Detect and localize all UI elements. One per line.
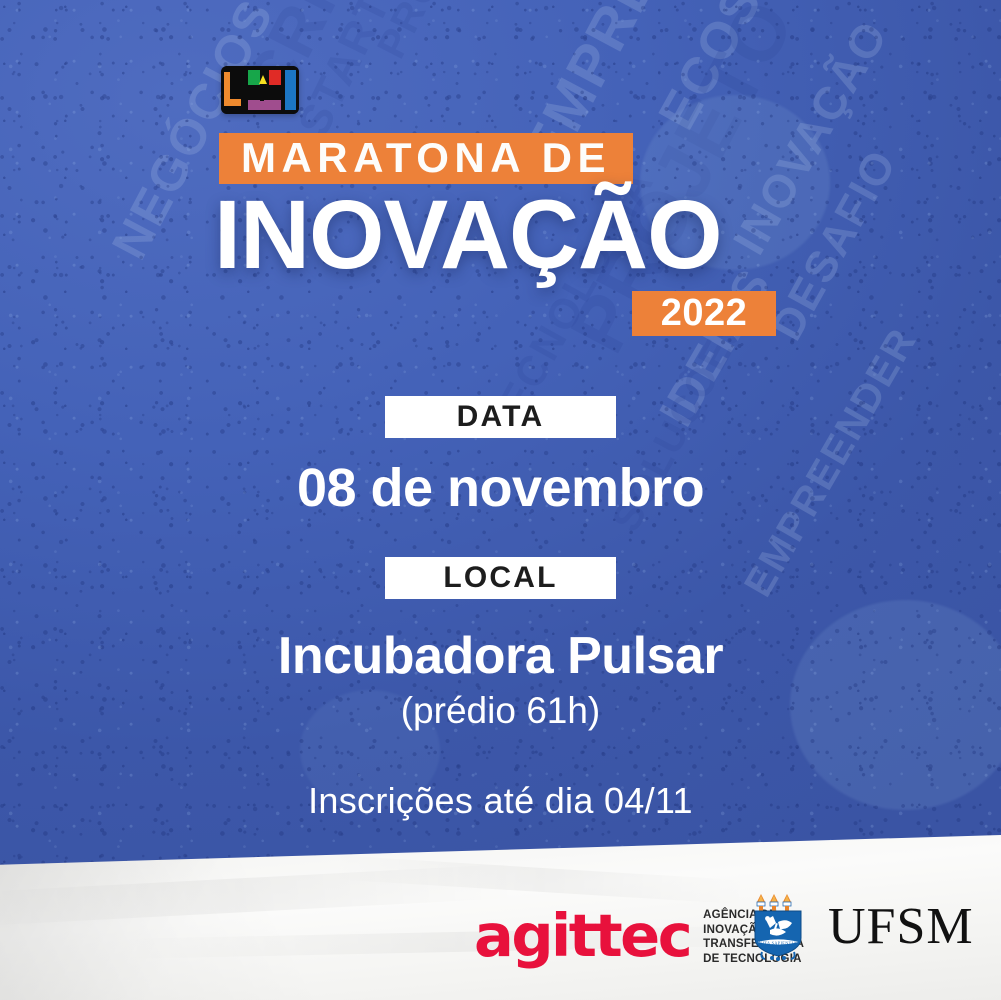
headline-line2: INOVAÇÃO — [214, 186, 814, 283]
ufsm-logo: VITA SAPIENTIA UFSM — [752, 892, 974, 962]
headline-line1: MARATONA DE — [241, 137, 611, 181]
svg-text:VITA SAPIENTIA: VITA SAPIENTIA — [759, 941, 797, 946]
agittec-wordmark: agittec — [474, 906, 690, 965]
promotional-poster: CRIATIVIDADE EMPREENDEDORISMO ECOSSISTEM… — [0, 0, 1001, 1000]
local-label-badge: LOCAL — [385, 557, 616, 599]
ufsm-crest-icon: VITA SAPIENTIA — [752, 892, 814, 962]
local-label-text: LOCAL — [443, 563, 557, 594]
jai-logo-icon — [221, 66, 299, 114]
ufsm-wordmark: UFSM — [828, 901, 974, 953]
venue-detail: (prédio 61h) — [0, 692, 1001, 729]
headline-maratona-bar: MARATONA DE — [219, 133, 633, 184]
year-text: 2022 — [661, 294, 748, 334]
data-label-badge: DATA — [385, 396, 616, 438]
venue-value: Incubadora Pulsar — [0, 630, 1001, 682]
year-badge: 2022 — [632, 291, 776, 336]
data-label-text: DATA — [457, 402, 545, 433]
torch-group — [757, 894, 791, 912]
jai-logo-svg — [221, 66, 299, 114]
date-value: 08 de novembro — [0, 461, 1001, 515]
registration-deadline: Inscrições até dia 04/11 — [0, 783, 1001, 819]
